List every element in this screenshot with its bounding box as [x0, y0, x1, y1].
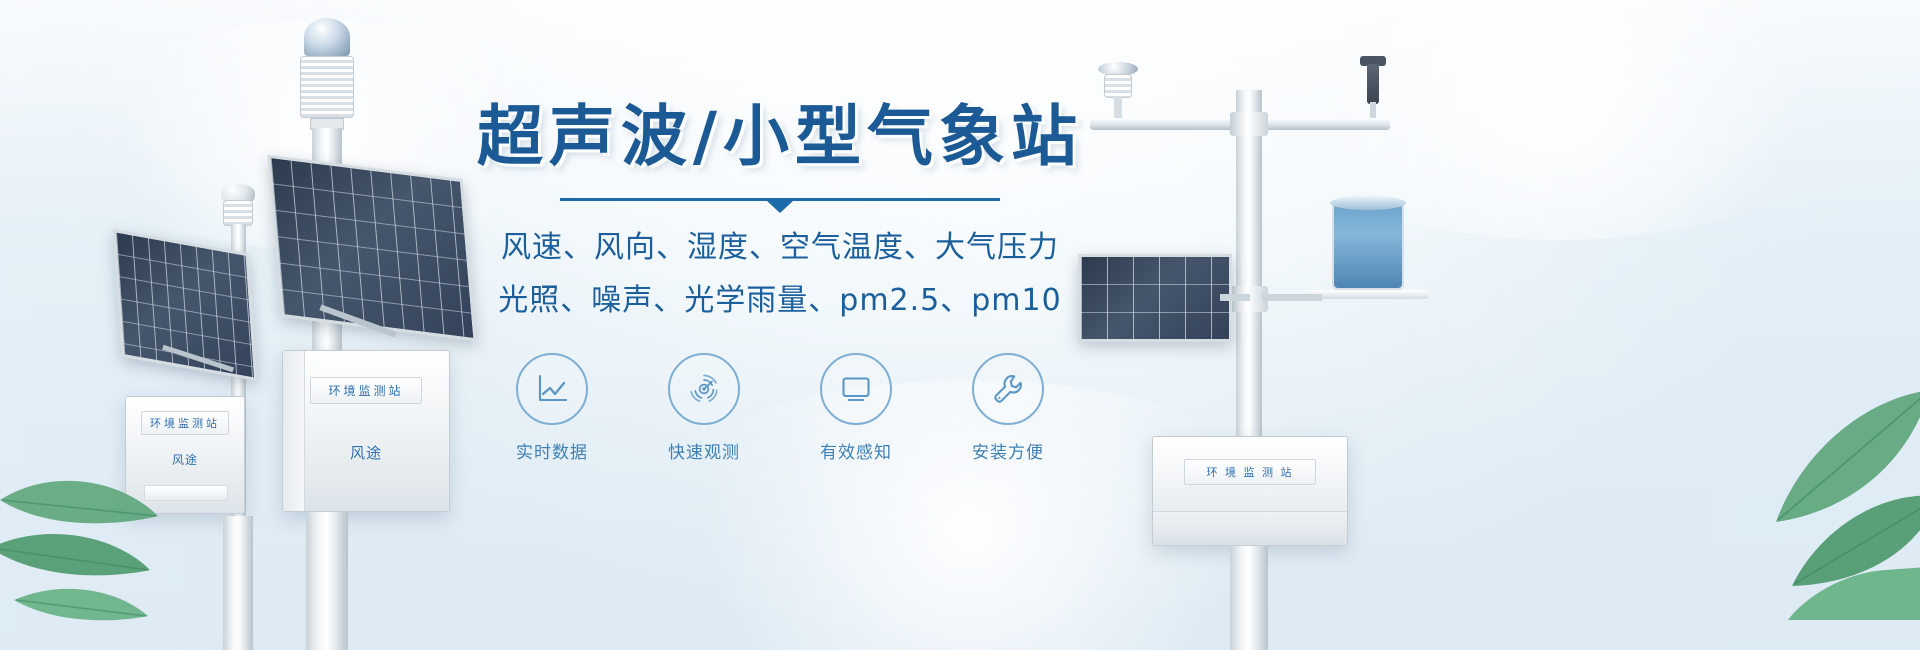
rain-gauge-shelf: [1308, 290, 1428, 299]
center-enclosure-label-strip: 环境监测站: [310, 377, 422, 404]
subtitle-line-2: 光照、噪声、光学雨量、pm2.5、pm10: [430, 277, 1130, 326]
right-enclosure-panel-seam: [1153, 511, 1347, 545]
feature-label: 快速观测: [650, 438, 758, 463]
left-enclosure-vent: [144, 485, 228, 501]
leaf-decoration-right: [1650, 370, 1920, 620]
right-enclosure: 环 境 监 测 站: [1152, 436, 1348, 546]
feature-item-easy-installation[interactable]: 安装方便: [954, 353, 1062, 463]
right-enclosure-label-strip: 环 境 监 测 站: [1184, 459, 1316, 485]
rain-gauge: [1332, 202, 1404, 290]
subtitle-line-1: 风速、风向、湿度、空气温度、大气压力: [430, 224, 1130, 273]
rain-gauge-rim: [1330, 196, 1406, 210]
ultrasonic-sensor-body: [1104, 74, 1132, 98]
right-station-label: 环 境 监 测 站: [1185, 464, 1315, 480]
rain-gauge-arm: [1262, 294, 1322, 301]
center-enclosure: 环境监测站 风途: [282, 350, 450, 512]
wrench-icon: [989, 370, 1027, 408]
left-enclosure: 环境监测站 风途: [125, 396, 245, 514]
monitor-icon: [837, 370, 875, 408]
feature-label: 安装方便: [954, 438, 1062, 463]
center-station-label: 环境监测站: [311, 382, 421, 399]
product-banner: 环境监测站 风途 环境监测站 风途: [0, 0, 1920, 650]
left-enclosure-label-strip: 环境监测站: [141, 411, 229, 435]
feature-icon-circle: [820, 353, 892, 425]
center-base: [306, 512, 348, 650]
page-title: 超声波/小型气象站: [430, 100, 1130, 174]
banner-content: 超声波/小型气象站 风速、风向、湿度、空气温度、大气压力 光照、噪声、光学雨量、…: [430, 100, 1130, 463]
left-station-brand: 风途: [126, 451, 244, 468]
feature-item-realtime-data[interactable]: 实时数据: [498, 353, 606, 463]
left-station-label: 环境监测站: [142, 415, 228, 431]
feature-icon-circle: [972, 353, 1044, 425]
right-base: [1230, 546, 1268, 650]
feature-label: 有效感知: [802, 438, 910, 463]
feature-item-effective-sensing[interactable]: 有效感知: [802, 353, 910, 463]
wind-vane-body: [1367, 64, 1379, 104]
center-enclosure-door-seam: [283, 351, 305, 511]
feature-list: 实时数据: [430, 353, 1130, 463]
center-sensor-dome: [304, 18, 350, 56]
center-sensor-stack: [300, 56, 354, 118]
left-solar-panel: [113, 229, 257, 381]
title-divider: [560, 198, 1000, 212]
line-chart-icon: [533, 370, 571, 408]
feature-icon-circle: [668, 353, 740, 425]
right-panel-arm: [1220, 294, 1250, 301]
feature-item-fast-observation[interactable]: 快速观测: [650, 353, 758, 463]
feature-icon-circle: [516, 353, 588, 425]
radar-icon: [685, 370, 723, 408]
center-station-brand: 风途: [283, 442, 449, 463]
feature-label: 实时数据: [498, 438, 606, 463]
right-mast-collar-top: [1230, 112, 1268, 136]
divider-triangle-icon: [767, 201, 793, 213]
